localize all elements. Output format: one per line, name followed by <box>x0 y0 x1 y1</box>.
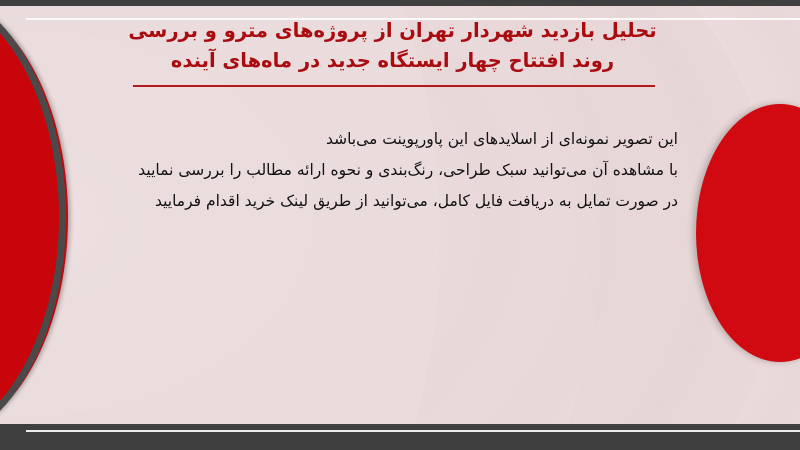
slide-title-line-1: تحلیل بازدید شهردار تهران از پروژه‌های م… <box>120 16 665 46</box>
slide-content-panel: تحلیل بازدید شهردار تهران از پروژه‌های م… <box>0 6 800 424</box>
page-edge-bottom <box>26 430 800 432</box>
slide-body: این تصویر نمونه‌ای از اسلایدهای این پاور… <box>118 124 678 217</box>
slide-body-line-1: این تصویر نمونه‌ای از اسلایدهای این پاور… <box>118 124 678 155</box>
red-ellipse-right <box>696 104 800 362</box>
title-underline <box>133 85 655 87</box>
slide-body-line-3: در صورت تمایل به دریافت فایل کامل، می‌تو… <box>118 186 678 217</box>
slide-title: تحلیل بازدید شهردار تهران از پروژه‌های م… <box>120 16 665 76</box>
presentation-slide: تحلیل بازدید شهردار تهران از پروژه‌های م… <box>0 0 800 450</box>
slide-title-line-2: روند افتتاح چهار ایستگاه جدید در ماه‌های… <box>120 46 665 76</box>
slide-body-line-2: با مشاهده آن می‌توانید سبک طراحی، رنگ‌بن… <box>118 155 678 186</box>
page-edge-top <box>26 18 800 20</box>
